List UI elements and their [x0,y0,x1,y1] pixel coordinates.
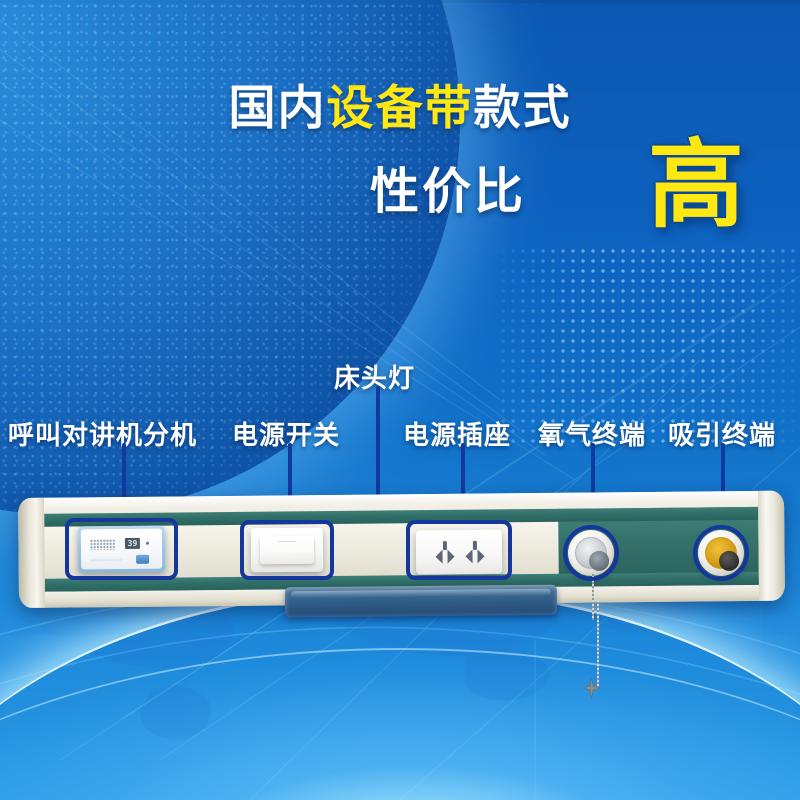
headline-part-1: 国内 [229,81,327,134]
panel-end-cap-right [758,491,785,601]
highlight-box-intercom [65,518,178,580]
callout-label-power-socket: 电源插座 [403,415,511,452]
highlight-box-power-socket [406,520,512,580]
callout-label-intercom: 呼叫对讲机分机 [8,415,197,452]
callout-label-bed-lamp: 床头灯 [334,358,415,395]
bed-lamp-diffuser [285,585,557,618]
panel-end-cap-left [18,498,45,608]
headline-line-2-row: 性价比 高 [0,160,800,240]
suction-terminal-chain [597,600,599,688]
headline-line-1: 国内设备带款式 [229,84,572,131]
headline-line-2: 性价比 [370,168,526,217]
promo-banner: 国内设备带款式 性价比 高 呼叫对讲机分机 电源开关 床头灯 电源插座 氧气终端… [0,0,800,800]
callout-label-power-switch: 电源开关 [232,415,340,452]
headline-emphasis: 高 [648,138,744,234]
highlight-circle-oxygen [563,525,619,581]
headline-part-3: 款式 [474,81,572,134]
headline-group: 国内设备带款式 [0,84,800,131]
highlight-box-power-switch [240,520,334,580]
headline-part-2: 设备带 [327,81,474,134]
terminal-hook-icon [583,678,600,699]
highlight-circle-suction [693,525,749,581]
